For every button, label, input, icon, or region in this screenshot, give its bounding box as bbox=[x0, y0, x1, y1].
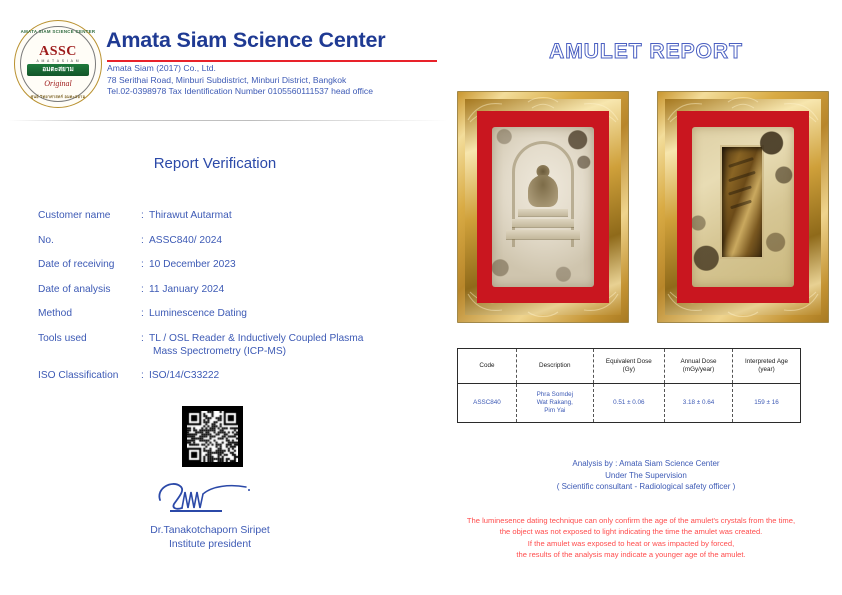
desc-line-2: Wat Rakang, bbox=[519, 399, 591, 407]
amulet-front-image bbox=[492, 127, 594, 287]
field-value: 10 December 2023 bbox=[149, 258, 438, 271]
seal-latin-subtext: A M A T A S I A M bbox=[14, 59, 102, 63]
desc-line-3: Pim Yai bbox=[519, 407, 591, 415]
field-colon: : bbox=[141, 234, 149, 247]
header-annual-dose: Annual Dose (mGy/year) bbox=[664, 349, 732, 384]
field-label: Tools used bbox=[38, 332, 141, 358]
seal-original-text: Original bbox=[14, 79, 102, 88]
qr-canvas bbox=[187, 411, 238, 462]
header-interpreted-age: Interpreted Age (year) bbox=[733, 349, 801, 384]
signature-underline bbox=[170, 510, 222, 512]
amulet-back-image bbox=[692, 127, 794, 287]
disclaimer-line-4: the results of the analysis may indicate… bbox=[420, 549, 842, 560]
field-label: Date of receiving bbox=[38, 258, 141, 271]
field-value: ASSC840/ 2024 bbox=[149, 234, 438, 247]
field-colon: : bbox=[141, 258, 149, 271]
header-line-1: Interpreted Age bbox=[735, 358, 798, 366]
header-line-1: Code bbox=[460, 362, 514, 370]
analysis-line-1: Analysis by : Amata Siam Science Center bbox=[450, 458, 842, 470]
field-value: TL / OSL Reader & Inductively Coupled Pl… bbox=[149, 332, 438, 358]
header-line-2: (mGy/year) bbox=[667, 366, 730, 374]
header-line-1: Description bbox=[519, 362, 591, 370]
field-customer-name: Customer name : Thirawut Autarmat bbox=[38, 209, 438, 222]
field-label: Date of analysis bbox=[38, 283, 141, 296]
cell-interpreted-age: 159 ± 16 bbox=[733, 384, 801, 423]
cell-code: ASSC840 bbox=[458, 384, 517, 423]
header-description: Description bbox=[516, 349, 593, 384]
desc-line-1: Phra Somdej bbox=[519, 391, 591, 399]
signature-mark bbox=[150, 478, 270, 514]
field-report-number: No. : ASSC840/ 2024 bbox=[38, 234, 438, 247]
amulet-photo-back bbox=[658, 92, 828, 322]
table-header-row: Code Description Equivalent Dose (Gy) An… bbox=[458, 349, 801, 384]
analysis-line-3: ( Scientific consultant - Radiological s… bbox=[450, 481, 842, 493]
header-red-rule bbox=[107, 60, 437, 62]
qr-code[interactable] bbox=[182, 406, 243, 467]
analysis-attribution: Analysis by : Amata Siam Science Center … bbox=[450, 458, 842, 493]
field-value: ISO/14/C33222 bbox=[149, 369, 438, 382]
signatory-role: Institute president bbox=[60, 538, 360, 552]
header-line-1: Annual Dose bbox=[667, 358, 730, 366]
header-line-1: Equivalent Dose bbox=[596, 358, 662, 366]
field-method: Method : Luminescence Dating bbox=[38, 307, 438, 320]
address-line-2: 78 Serithai Road, Minburi Subdistrict, M… bbox=[107, 75, 373, 87]
field-label: No. bbox=[38, 234, 141, 247]
company-address: Amata Siam (2017) Co., Ltd. 78 Serithai … bbox=[107, 63, 373, 98]
field-value: Thirawut Autarmat bbox=[149, 209, 438, 222]
field-label: Customer name bbox=[38, 209, 141, 222]
cell-equivalent-dose: 0.51 ± 0.06 bbox=[593, 384, 664, 423]
field-iso-classification: ISO Classification : ISO/14/C33222 bbox=[38, 369, 438, 382]
report-header: AMATA SIAM SCIENCE CENTER ASSC A M A T A… bbox=[0, 0, 450, 120]
disclaimer-line-2: the object was not exposed to light indi… bbox=[420, 526, 842, 537]
cell-description: Phra Somdej Wat Rakang, Pim Yai bbox=[516, 384, 593, 423]
results-table: Code Description Equivalent Dose (Gy) An… bbox=[457, 348, 801, 423]
verification-fields: Customer name : Thirawut Autarmat No. : … bbox=[38, 209, 438, 394]
seal-arc-top-text: AMATA SIAM SCIENCE CENTER bbox=[14, 29, 102, 34]
analysis-line-2: Under The Supervision bbox=[450, 470, 842, 482]
header-line-2: (year) bbox=[735, 366, 798, 374]
amulet-surface-patina bbox=[492, 127, 594, 287]
header-divider bbox=[8, 120, 448, 121]
seal-thai-name: อมตะสยาม bbox=[27, 64, 89, 76]
field-colon: : bbox=[141, 332, 149, 358]
field-tools-used: Tools used : TL / OSL Reader & Inductive… bbox=[38, 332, 438, 358]
field-colon: : bbox=[141, 283, 149, 296]
signatory-name: Dr.Tanakotchaporn Siripet bbox=[60, 524, 360, 538]
field-date-of-analysis: Date of analysis : 11 January 2024 bbox=[38, 283, 438, 296]
company-name: Amata Siam Science Center bbox=[106, 28, 385, 53]
disclaimer-line-1: The luminesence dating technique can onl… bbox=[420, 515, 842, 526]
header-equivalent-dose: Equivalent Dose (Gy) bbox=[593, 349, 664, 384]
field-value: 11 January 2024 bbox=[149, 283, 438, 296]
amulet-surface-patina bbox=[692, 127, 794, 287]
address-line-1: Amata Siam (2017) Co., Ltd. bbox=[107, 63, 373, 75]
field-label: Method bbox=[38, 307, 141, 320]
seal-abbreviation: ASSC bbox=[14, 44, 102, 60]
field-colon: : bbox=[141, 209, 149, 222]
table-row: ASSC840 Phra Somdej Wat Rakang, Pim Yai … bbox=[458, 384, 801, 423]
field-value: Luminescence Dating bbox=[149, 307, 438, 320]
field-date-of-receiving: Date of receiving : 10 December 2023 bbox=[38, 258, 438, 271]
signatory-block: Dr.Tanakotchaporn Siripet Institute pres… bbox=[60, 524, 360, 552]
disclaimer-text: The luminesence dating technique can onl… bbox=[420, 515, 842, 561]
header-code: Code bbox=[458, 349, 517, 384]
cell-annual-dose: 3.18 ± 0.64 bbox=[664, 384, 732, 423]
field-colon: : bbox=[141, 307, 149, 320]
amulet-report-title: AMULET REPORT bbox=[450, 40, 842, 64]
amulet-photo-front bbox=[458, 92, 628, 322]
disclaimer-line-3: If the amulet was exposed to heat or was… bbox=[420, 538, 842, 549]
qr-code-matrix bbox=[187, 411, 238, 462]
company-seal-logo: AMATA SIAM SCIENCE CENTER ASSC A M A T A… bbox=[14, 20, 102, 108]
field-value-line-2: Mass Spectrometry (ICP-MS) bbox=[149, 345, 438, 358]
field-value-line-1: TL / OSL Reader & Inductively Coupled Pl… bbox=[149, 333, 363, 344]
field-colon: : bbox=[141, 369, 149, 382]
seal-arc-bottom-text: ศูนย์ วิทยาศาสตร์ อมตะสยาม bbox=[14, 94, 102, 100]
field-label: ISO Classification bbox=[38, 369, 141, 382]
header-line-2: (Gy) bbox=[596, 366, 662, 374]
address-line-3: Tel.02-0398978 Tax Identification Number… bbox=[107, 86, 373, 98]
page-title: Report Verification bbox=[0, 155, 430, 172]
